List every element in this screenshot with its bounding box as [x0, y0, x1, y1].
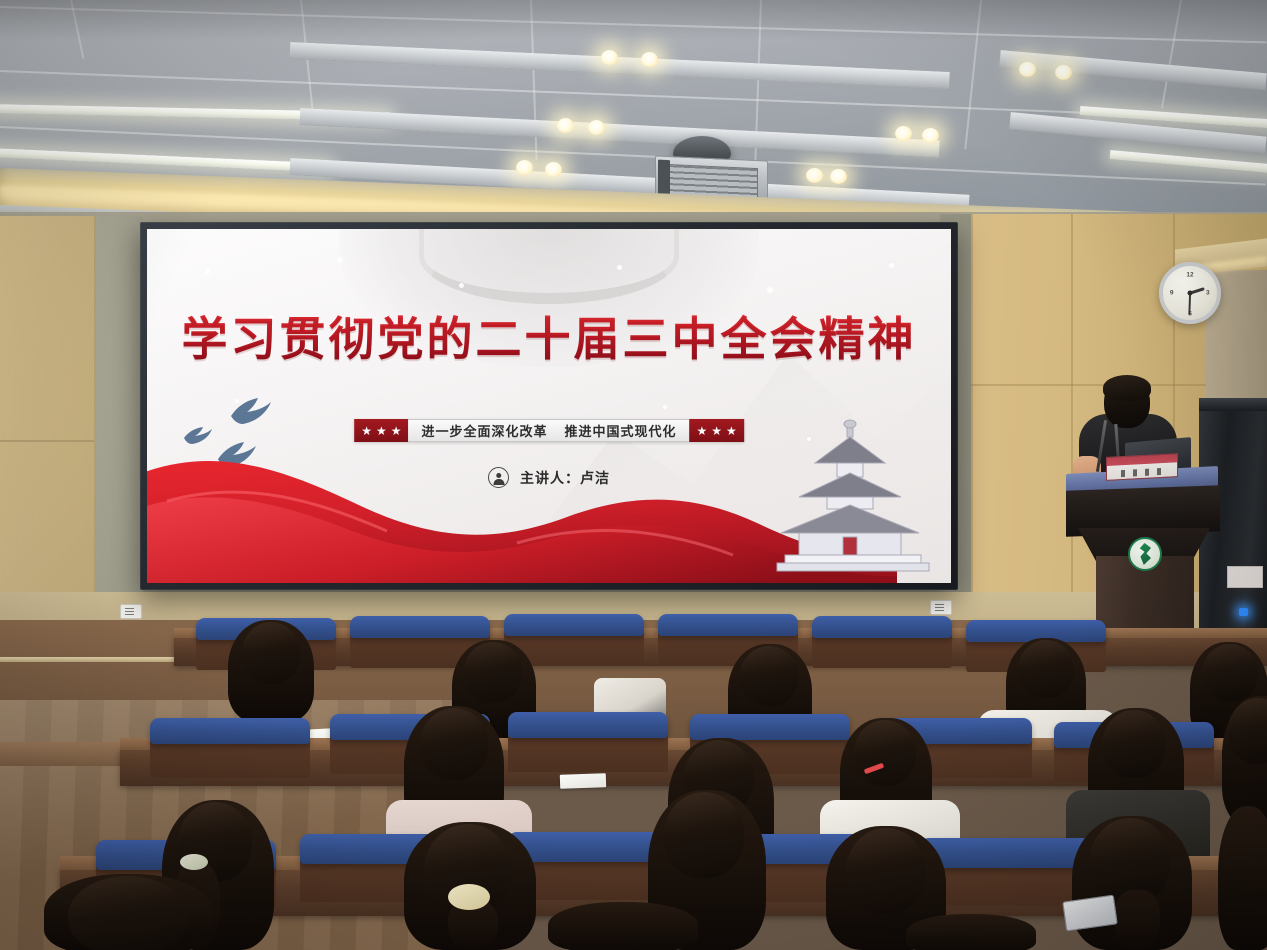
ceiling-rail [300, 108, 940, 157]
slide-title: 学习贯彻党的二十届三中全会精神 [147, 303, 951, 369]
star-icon: ★ [726, 425, 737, 437]
audience-hair [648, 790, 766, 950]
seat-frame [508, 840, 688, 900]
paper-sheet [560, 773, 606, 789]
slide-speaker-row: 主讲人：卢洁 [488, 467, 610, 488]
star-icon: ★ [711, 425, 722, 437]
audience-head [664, 792, 744, 878]
spot-light [641, 52, 658, 67]
presentation-slide: ★ [147, 229, 951, 583]
audience-hair [826, 826, 946, 950]
wristwatch [1222, 748, 1240, 764]
podium-name-card [1106, 453, 1178, 481]
led-screen[interactable]: ★ [140, 222, 958, 590]
stars-block-left: ★ ★ ★ [354, 419, 408, 442]
star-icon: ★ [391, 425, 402, 437]
seat-frame [920, 846, 1100, 906]
spot-light [922, 128, 939, 143]
ceiling-rail [999, 50, 1266, 90]
pen [864, 763, 885, 775]
wall-socket [930, 600, 952, 615]
audience-seat[interactable] [712, 834, 892, 864]
dove-icon [230, 397, 272, 429]
audience-hair [906, 914, 1036, 950]
spot-light [601, 50, 618, 65]
audience-hair [1088, 708, 1184, 826]
audience-ponytail [1114, 890, 1160, 950]
ceiling-light-strip [0, 148, 330, 172]
presenter-hair [1103, 375, 1151, 401]
banner-text-right: 推进中国式现代化 [565, 421, 677, 440]
banner-text: 进一步全面深化改革 推进中国式现代化 [408, 419, 689, 442]
power-indicator-icon [1239, 608, 1248, 616]
wall-socket [120, 604, 142, 619]
smartphone[interactable] [1062, 895, 1118, 932]
spot-light [830, 169, 847, 184]
ceiling-light-strip [1110, 150, 1267, 174]
slide-subtitle-banner: ★ ★ ★ 进一步全面深化改革 推进中国式现代化 ★ ★ ★ [354, 419, 744, 442]
spot-light [806, 168, 823, 183]
star-icon: ★ [376, 425, 387, 437]
left-wall-wood-panel [0, 216, 96, 616]
audience-hair [548, 902, 698, 950]
spot-light [895, 126, 912, 141]
spot-light [1019, 62, 1036, 77]
stars-block-right: ★ ★ ★ [690, 419, 744, 442]
star-icon: ★ [361, 425, 372, 437]
star-icon: ★ [697, 425, 708, 437]
podium-column [1096, 556, 1194, 666]
audience-hair [1222, 696, 1267, 826]
audience-hair [1218, 806, 1267, 950]
spot-light [588, 120, 605, 135]
person-icon [488, 467, 509, 488]
wall-clock: 12 3 6 9 [1159, 262, 1221, 324]
seat-frame [712, 842, 892, 902]
spot-light [557, 118, 574, 133]
spot-light [1055, 65, 1072, 80]
audience-seat[interactable] [920, 838, 1100, 868]
audience-clothing [646, 836, 798, 906]
temple-of-heaven-illustration [769, 419, 937, 579]
ceiling-rail [290, 42, 950, 89]
audience-hair [668, 738, 774, 874]
audience-head [1090, 818, 1170, 904]
lecture-hall-photo: 12 3 6 9 ★ [0, 0, 1267, 950]
audience-clothing [1066, 790, 1210, 860]
audience-head [1228, 698, 1267, 764]
equipment-rack-label [1227, 566, 1263, 588]
audience-hair [1072, 816, 1192, 950]
equipment-rack-top [1199, 398, 1267, 411]
audience-clothing [820, 800, 960, 866]
audience-head [684, 740, 754, 814]
spot-light [516, 160, 533, 175]
banner-text-left: 进一步全面深化改革 [421, 421, 547, 440]
audience-head [1102, 710, 1166, 778]
audience-head [846, 828, 926, 914]
audience-seat[interactable] [508, 832, 688, 862]
equipment-rack [1199, 404, 1267, 666]
institution-logo-icon [1128, 537, 1162, 571]
spot-light [545, 162, 562, 177]
stage-step [0, 742, 430, 766]
slide-speaker-label: 主讲人：卢洁 [520, 468, 610, 488]
left-wall-acoustic-panel [96, 216, 143, 616]
